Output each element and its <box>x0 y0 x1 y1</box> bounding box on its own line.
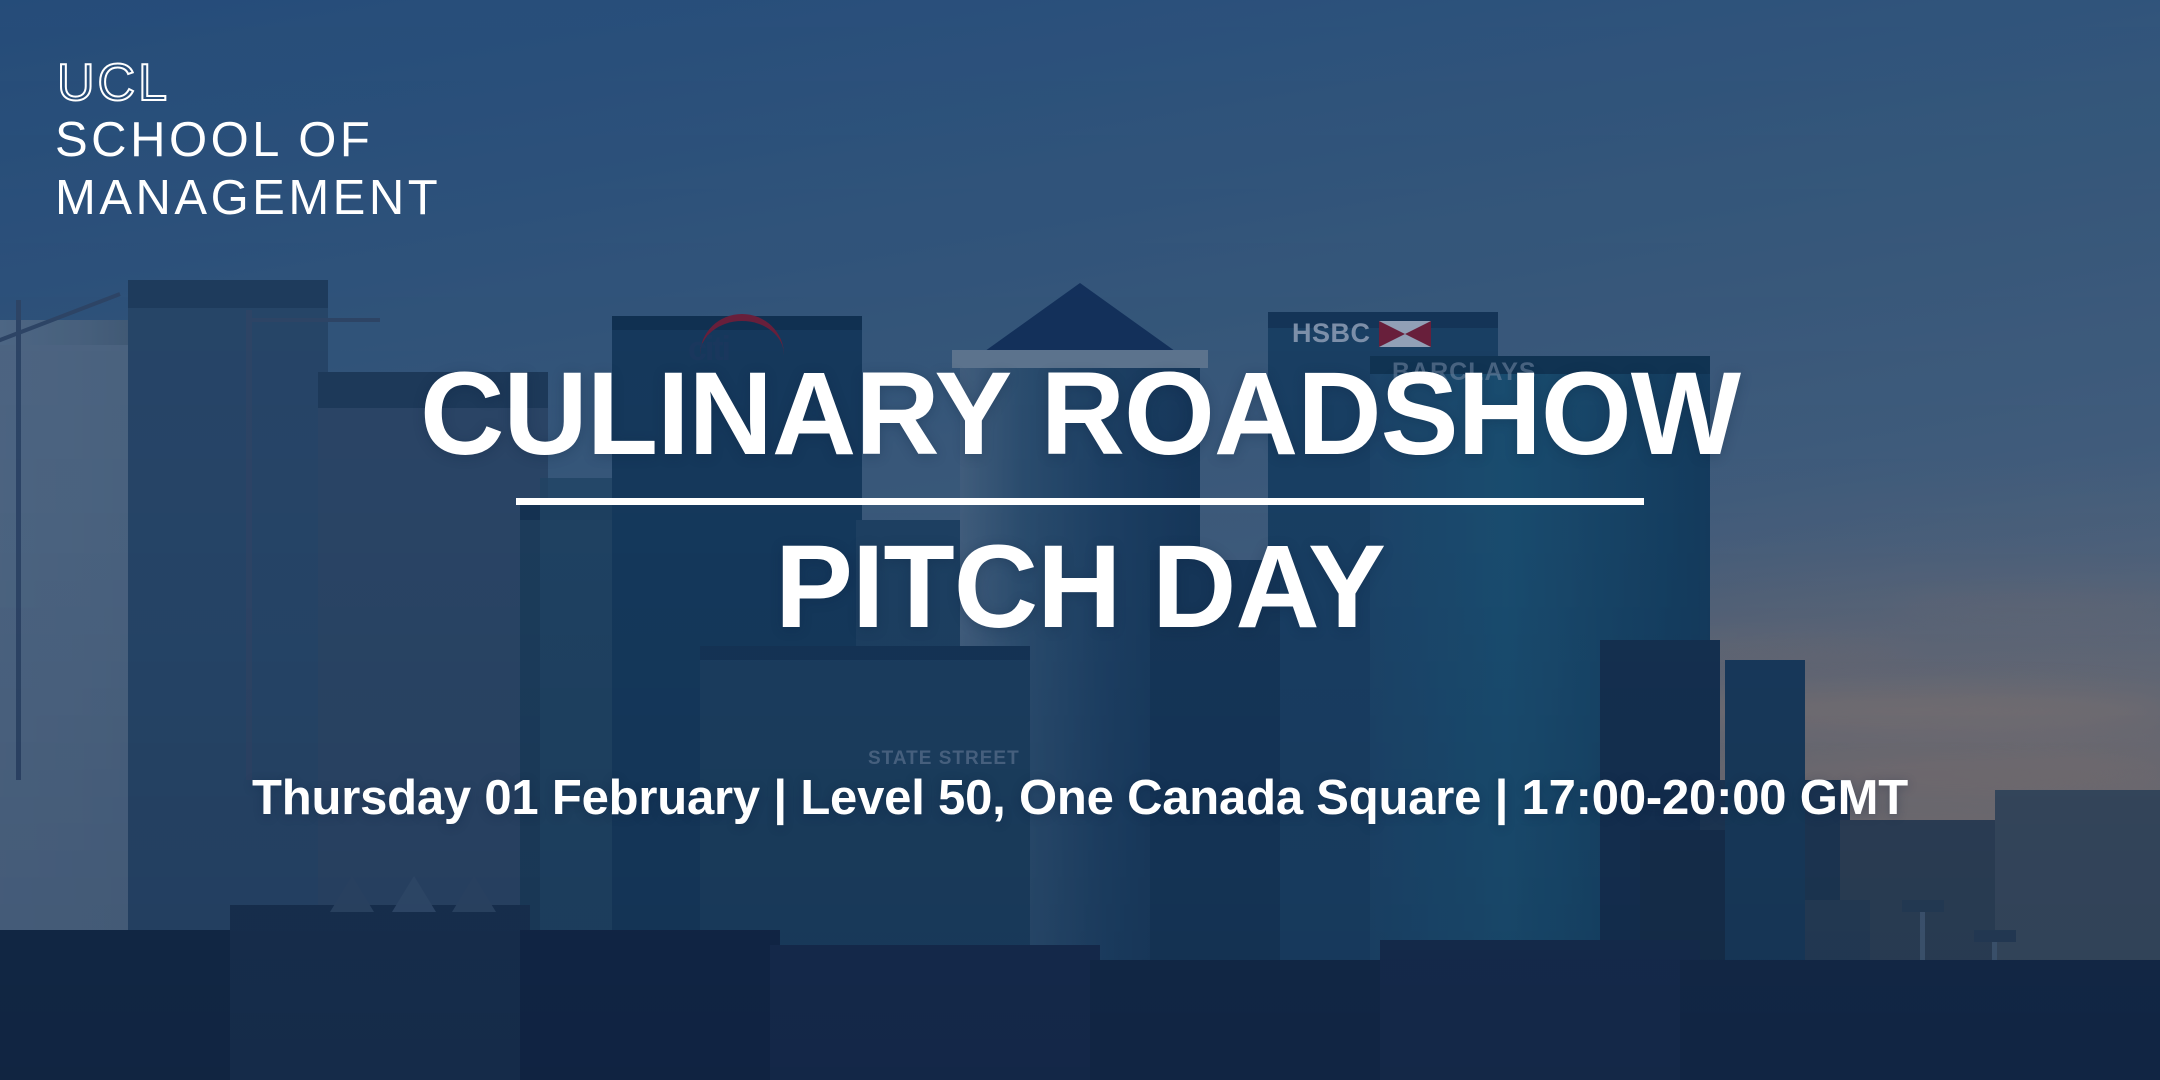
event-details-subtitle: Thursday 01 February | Level 50, One Can… <box>0 768 2160 828</box>
headline-block: CULINARY ROADSHOW PITCH DAY <box>0 352 2160 649</box>
logo-line-ucl: UCL <box>57 55 615 111</box>
logo-line-management: MANAGEMENT <box>55 169 615 227</box>
logo-line-school-of: SCHOOL OF <box>55 111 615 169</box>
page-title-line-2: PITCH DAY <box>11 525 2149 649</box>
poster-content: UCL SCHOOL OF MANAGEMENT CULINARY ROADSH… <box>0 0 2160 1080</box>
event-poster: citi HSBC BARCLAYS STATE STREET <box>0 0 2160 1080</box>
title-divider-rule <box>516 498 1644 505</box>
page-title-line-1: CULINARY ROADSHOW <box>11 352 2149 476</box>
ucl-school-of-management-logo: UCL SCHOOL OF MANAGEMENT <box>55 55 615 227</box>
